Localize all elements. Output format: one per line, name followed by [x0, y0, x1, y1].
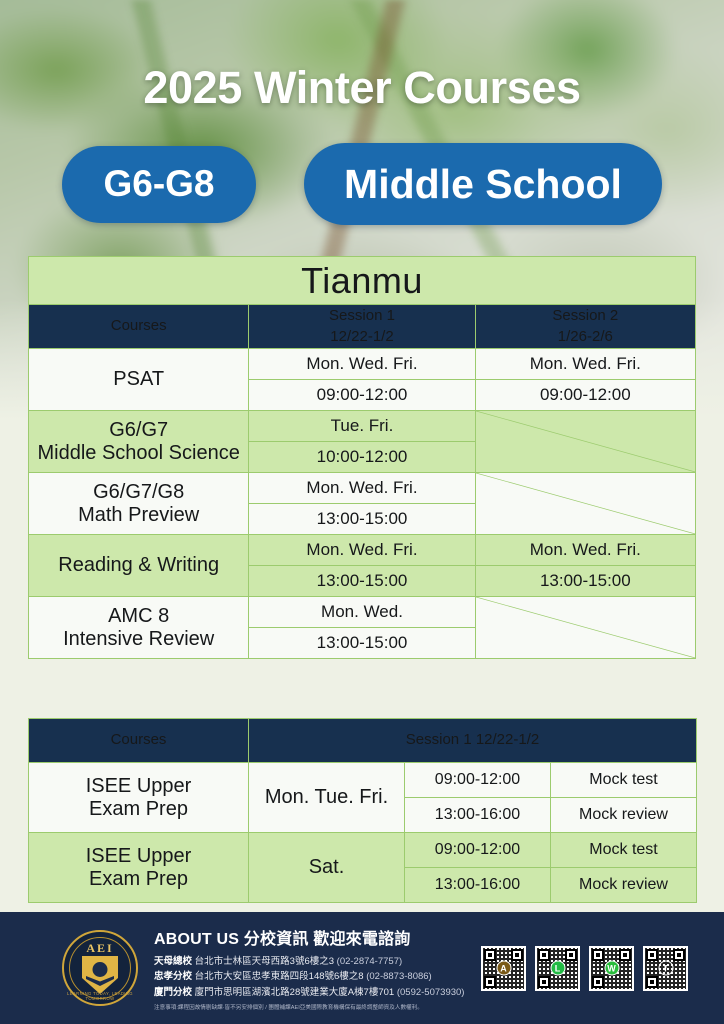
qr-finder-icon [538, 949, 550, 961]
qr-code-list: ALWf [481, 946, 688, 991]
exam-days: Mon. Tue. Fri. [249, 763, 405, 833]
session2-empty [475, 473, 695, 535]
aei-logo-icon: AEI LEARNING TODAY, LEADING TOMORROW [62, 930, 138, 1006]
qr-code-facebook[interactable]: f [643, 946, 688, 991]
about-us-block: ABOUT US 分校資訊 歡迎來電諮詢 天母總校 台北市士林區天母西路3號6樓… [154, 925, 454, 1011]
exam-time: 13:00-16:00 [405, 868, 551, 903]
header-courses: Courses [29, 305, 249, 349]
branch-address: 台北市大安區忠孝東路四段148號6樓之8 [195, 971, 364, 982]
branch-line: 忠孝分校 台北市大安區忠孝東路四段148號6樓之8 (02-8873-8086) [154, 969, 454, 984]
course-name: Reading & Writing [29, 535, 249, 597]
footer-bar: AEI LEARNING TODAY, LEADING TOMORROW ABO… [0, 912, 724, 1024]
session2-days: Mon. Wed. Fri. [475, 535, 695, 566]
qr-finder-icon [673, 949, 685, 961]
level-pill: Middle School [304, 143, 662, 225]
qr-finder-icon [619, 949, 631, 961]
table-row: G6/G7/G8Math PreviewMon. Wed. Fri. [29, 473, 696, 504]
exam-table-row: ISEE UpperExam PrepMon. Tue. Fri.09:00-1… [29, 763, 697, 798]
session1-time: 10:00-12:00 [249, 442, 475, 473]
grade-pill: G6-G8 [62, 146, 256, 223]
session1-days: Tue. Fri. [249, 411, 475, 442]
course-name: G6/G7Middle School Science [29, 411, 249, 473]
exam-table-row: ISEE UpperExam PrepSat.09:00-12:00Mock t… [29, 833, 697, 868]
header-session-1: Session 112/22-1/2 [249, 305, 475, 349]
branch-phone: (02-8873-8086) [366, 971, 432, 982]
branch-name: 忠孝分校 [154, 971, 192, 982]
branch-address: 台北市士林區天母西路3號6樓之3 [195, 956, 334, 967]
page-title: 2025 Winter Courses [0, 62, 724, 114]
exam-course-name: ISEE UpperExam Prep [29, 833, 249, 903]
header-session-2: Session 21/26-2/6 [475, 305, 695, 349]
session1-time: 13:00-15:00 [249, 628, 475, 659]
qr-finder-icon [592, 949, 604, 961]
session1-days: Mon. Wed. Fri. [249, 349, 475, 380]
logo-initials: AEI [64, 941, 136, 956]
exam-note: Mock test [551, 833, 697, 868]
table-row: Reading & WritingMon. Wed. Fri.Mon. Wed.… [29, 535, 696, 566]
branch-phone: (0592-5073930) [397, 987, 465, 998]
exam-time: 13:00-16:00 [405, 798, 551, 833]
qr-finder-icon [484, 949, 496, 961]
about-us-title: ABOUT US 分校資訊 歡迎來電諮詢 [154, 925, 454, 949]
exam-header-courses: Courses [29, 719, 249, 763]
qr-finder-icon [646, 949, 658, 961]
wechat-icon: W [604, 961, 619, 976]
footer-disclaimer: 注意事項:課程因故情剧缺課·皆不另安排個別 / 團體補課AEI亞美國際教育機構保… [154, 1003, 454, 1011]
exam-time: 09:00-12:00 [405, 833, 551, 868]
qr-code-aei[interactable]: A [481, 946, 526, 991]
branch-name: 廈門分校 [154, 987, 192, 998]
table-row: G6/G7Middle School ScienceTue. Fri. [29, 411, 696, 442]
qr-finder-icon [538, 976, 550, 988]
facebook-icon: f [658, 961, 673, 976]
session2-empty [475, 411, 695, 473]
campus-banner: Tianmu [29, 257, 696, 305]
session2-empty [475, 597, 695, 659]
qr-finder-icon [511, 949, 523, 961]
session2-time: 13:00-15:00 [475, 566, 695, 597]
session1-time: 13:00-15:00 [249, 566, 475, 597]
exam-note: Mock test [551, 763, 697, 798]
exam-course-name: ISEE UpperExam Prep [29, 763, 249, 833]
session2-time: 09:00-12:00 [475, 380, 695, 411]
branch-line: 天母總校 台北市士林區天母西路3號6樓之3 (02-2874-7757) [154, 954, 454, 969]
table-row: PSATMon. Wed. Fri.Mon. Wed. Fri. [29, 349, 696, 380]
qr-code-wechat[interactable]: W [589, 946, 634, 991]
session1-time: 13:00-15:00 [249, 504, 475, 535]
branch-address: 廈門市思明區湖濱北路28號建業大廈A棟7樓701 [195, 987, 395, 998]
winter-courses-poster: 2025 Winter Courses G6-G8 Middle School … [0, 0, 724, 1024]
logo-globe [93, 962, 108, 977]
grade-level-pills: G6-G8 Middle School [62, 143, 662, 225]
table-row: AMC 8Intensive ReviewMon. Wed. [29, 597, 696, 628]
course-name: PSAT [29, 349, 249, 411]
course-name: AMC 8Intensive Review [29, 597, 249, 659]
qr-finder-icon [484, 976, 496, 988]
qr-finder-icon [646, 976, 658, 988]
course-name: G6/G7/G8Math Preview [29, 473, 249, 535]
line-icon: L [550, 961, 565, 976]
exam-prep-table: CoursesSession 1 12/22-1/2ISEE UpperExam… [28, 718, 696, 903]
logo-motto: LEARNING TODAY, LEADING TOMORROW [64, 991, 136, 1001]
session2-days: Mon. Wed. Fri. [475, 349, 695, 380]
qr-finder-icon [592, 976, 604, 988]
qr-finder-icon [565, 949, 577, 961]
branch-phone: (02-2874-7757) [337, 956, 403, 967]
campus-schedule-table: TianmuCoursesSession 112/22-1/2Session 2… [28, 256, 696, 659]
session1-days: Mon. Wed. [249, 597, 475, 628]
branch-name: 天母總校 [154, 956, 192, 967]
exam-header-session: Session 1 12/22-1/2 [249, 719, 697, 763]
exam-days: Sat. [249, 833, 405, 903]
aei-icon: A [496, 961, 511, 976]
session1-time: 09:00-12:00 [249, 380, 475, 411]
session1-days: Mon. Wed. Fri. [249, 473, 475, 504]
branch-line: 廈門分校 廈門市思明區湖濱北路28號建業大廈A棟7樓701 (0592-5073… [154, 985, 454, 1000]
exam-note: Mock review [551, 868, 697, 903]
exam-time: 09:00-12:00 [405, 763, 551, 798]
session1-days: Mon. Wed. Fri. [249, 535, 475, 566]
exam-note: Mock review [551, 798, 697, 833]
qr-code-line[interactable]: L [535, 946, 580, 991]
